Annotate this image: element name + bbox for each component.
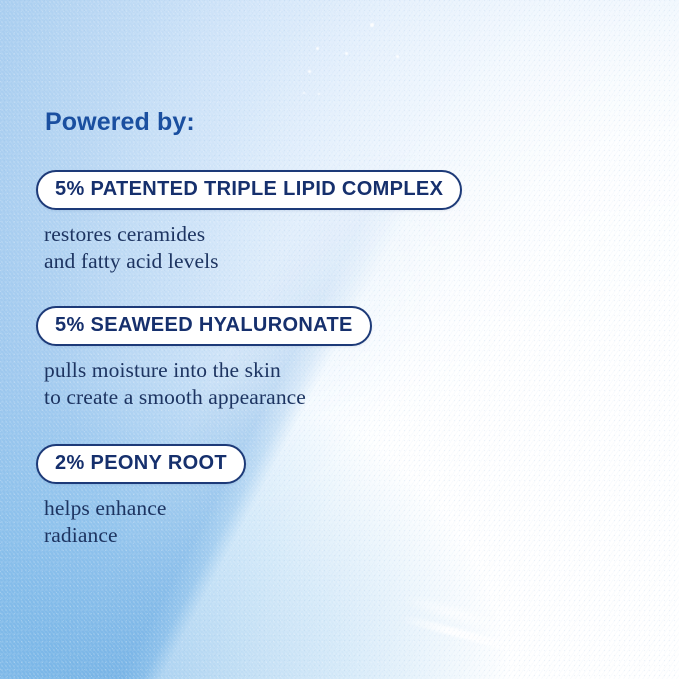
ingredient-badge-3: 2% PEONY ROOT — [36, 444, 246, 484]
sparkle-icon — [318, 93, 320, 95]
ingredient-description-3: helps enhance radiance — [44, 495, 246, 549]
sparkle-icon — [303, 92, 305, 94]
page-title: Powered by: — [45, 108, 195, 137]
ingredient-description-2-line-2: to create a smooth appearance — [44, 384, 372, 411]
ingredient-description-3-line-1: helps enhance — [44, 495, 246, 522]
sparkle-icon — [316, 47, 319, 50]
ingredient-badge-1: 5% PATENTED TRIPLE LIPID COMPLEX — [36, 170, 462, 210]
ingredient-description-1-line-2: and fatty acid levels — [44, 248, 462, 275]
product-ingredient-infographic: Powered by: 5% PATENTED TRIPLE LIPID COM… — [0, 0, 679, 679]
sparkle-icon — [370, 23, 374, 27]
sparkle-icon — [308, 70, 311, 73]
ingredient-block-2: 5% SEAWEED HYALURONATE pulls moisture in… — [36, 306, 372, 411]
sparkle-icon — [396, 55, 399, 58]
ingredient-badge-2: 5% SEAWEED HYALURONATE — [36, 306, 372, 346]
sparkle-icon — [345, 52, 348, 55]
ingredient-description-3-line-2: radiance — [44, 522, 246, 549]
ingredient-description-2-line-1: pulls moisture into the skin — [44, 357, 372, 384]
ingredient-description-2: pulls moisture into the skin to create a… — [44, 357, 372, 411]
ingredient-description-1-line-1: restores ceramides — [44, 221, 462, 248]
ingredient-description-1: restores ceramides and fatty acid levels — [44, 221, 462, 275]
ingredient-block-3: 2% PEONY ROOT helps enhance radiance — [36, 444, 246, 549]
ingredient-block-1: 5% PATENTED TRIPLE LIPID COMPLEX restore… — [36, 170, 462, 275]
